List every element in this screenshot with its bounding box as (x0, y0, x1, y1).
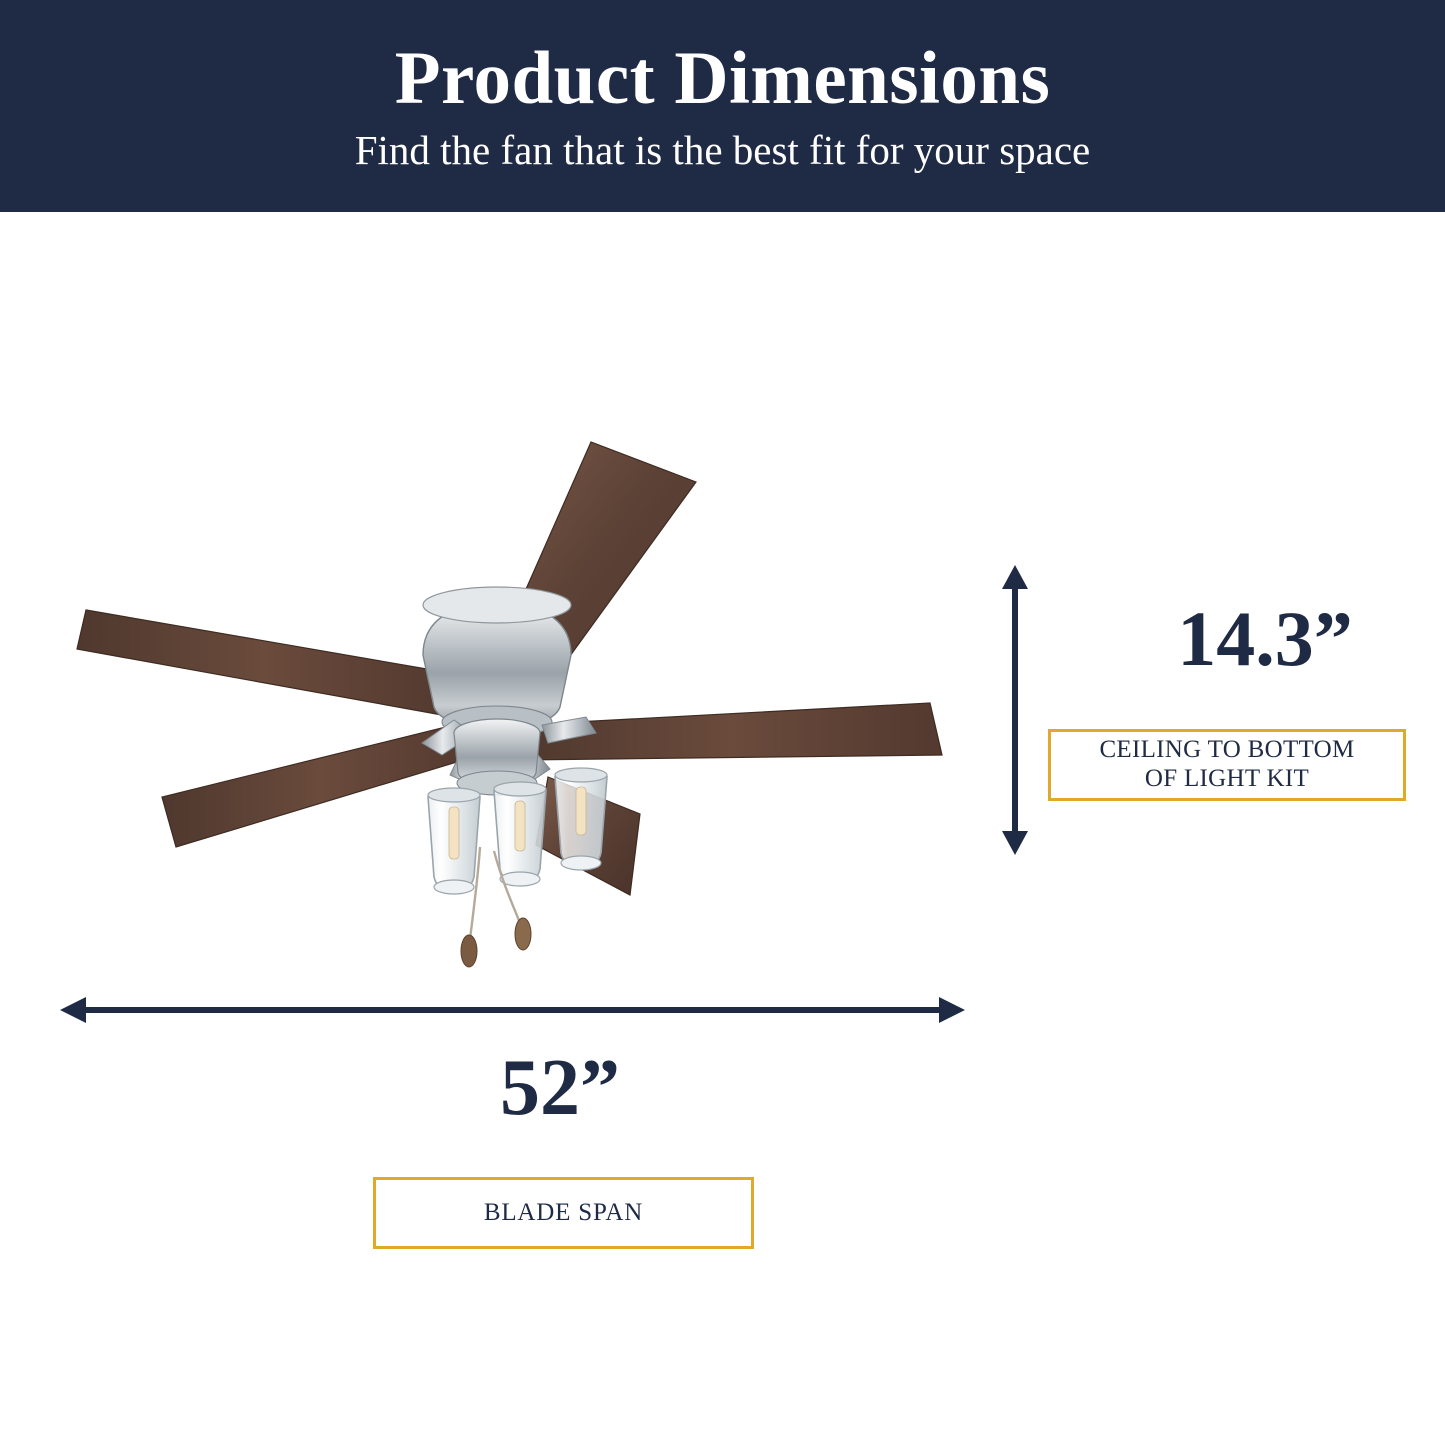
product-dimensions-infographic: Product Dimensions Find the fan that is … (0, 0, 1445, 1445)
width-dimension-arrow (60, 975, 965, 1045)
horizontal-double-arrow-icon (60, 975, 965, 1045)
product-image (50, 425, 965, 1050)
height-label-line1: CEILING TO BOTTOM (1099, 736, 1354, 763)
width-value: 52” (330, 1048, 790, 1128)
height-label-line2: OF LIGHT KIT (1145, 765, 1309, 792)
width-label-box: BLADE SPAN (373, 1177, 754, 1249)
width-label-text: BLADE SPAN (484, 1199, 643, 1227)
height-label-text: CEILING TO BOTTOM OF LIGHT KIT (1099, 736, 1354, 794)
height-label-box: CEILING TO BOTTOM OF LIGHT KIT (1048, 729, 1406, 801)
ceiling-fan-illustration (50, 425, 965, 1050)
height-value: 14.3” (1100, 600, 1430, 678)
height-dimension-arrow (975, 565, 1055, 855)
vertical-double-arrow-icon (975, 565, 1055, 855)
page-subtitle: Find the fan that is the best fit for yo… (355, 130, 1091, 171)
fan-light-kit (428, 768, 607, 894)
page-title: Product Dimensions (395, 41, 1051, 116)
header-banner: Product Dimensions Find the fan that is … (0, 0, 1445, 212)
